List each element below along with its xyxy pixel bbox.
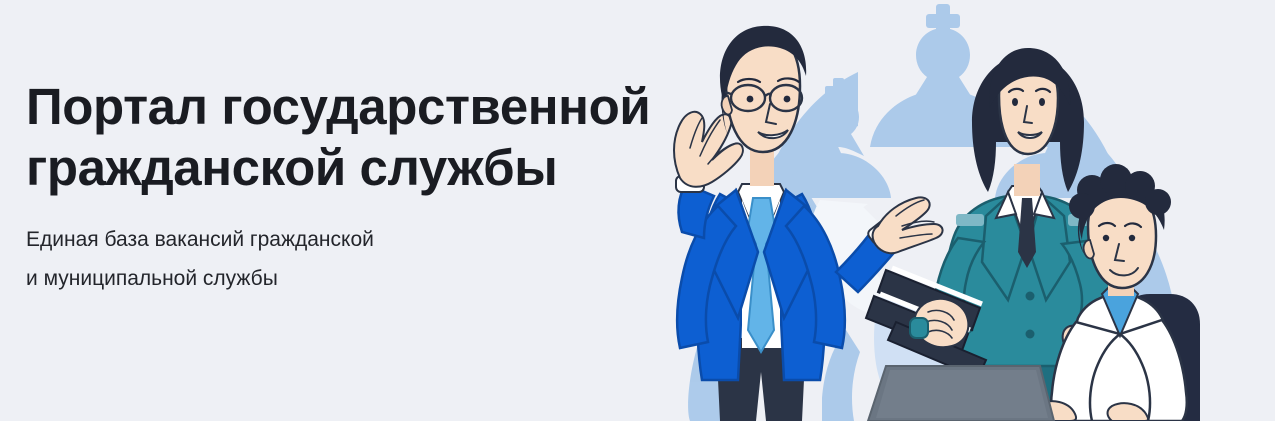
page-subtitle: Единая база вакансий гражданской и муниц… (26, 198, 686, 298)
man-left-eye (747, 96, 754, 103)
young-man-right-eye (1129, 235, 1135, 241)
woman-left-eye (1012, 98, 1018, 106)
woman-left-cuff (910, 318, 928, 338)
laptop (868, 366, 1054, 421)
hero-banner: Портал государственной гражданской служб… (0, 0, 1275, 421)
woman-jacket-button-2 (1026, 330, 1035, 339)
hero-text-block: Портал государственной гражданской служб… (26, 76, 686, 298)
woman-jacket-button-1 (1026, 292, 1035, 301)
woman-neck (1014, 164, 1040, 196)
page-title: Портал государственной гражданской служб… (26, 76, 686, 198)
laptop-screen-inner (876, 370, 1048, 418)
woman-right-eye (1039, 98, 1045, 106)
woman-left-epaulette (956, 214, 984, 226)
man-right-eye (784, 96, 791, 103)
young-man-left-eye (1103, 235, 1109, 241)
three-civil-servants-illustration (610, 0, 1275, 421)
